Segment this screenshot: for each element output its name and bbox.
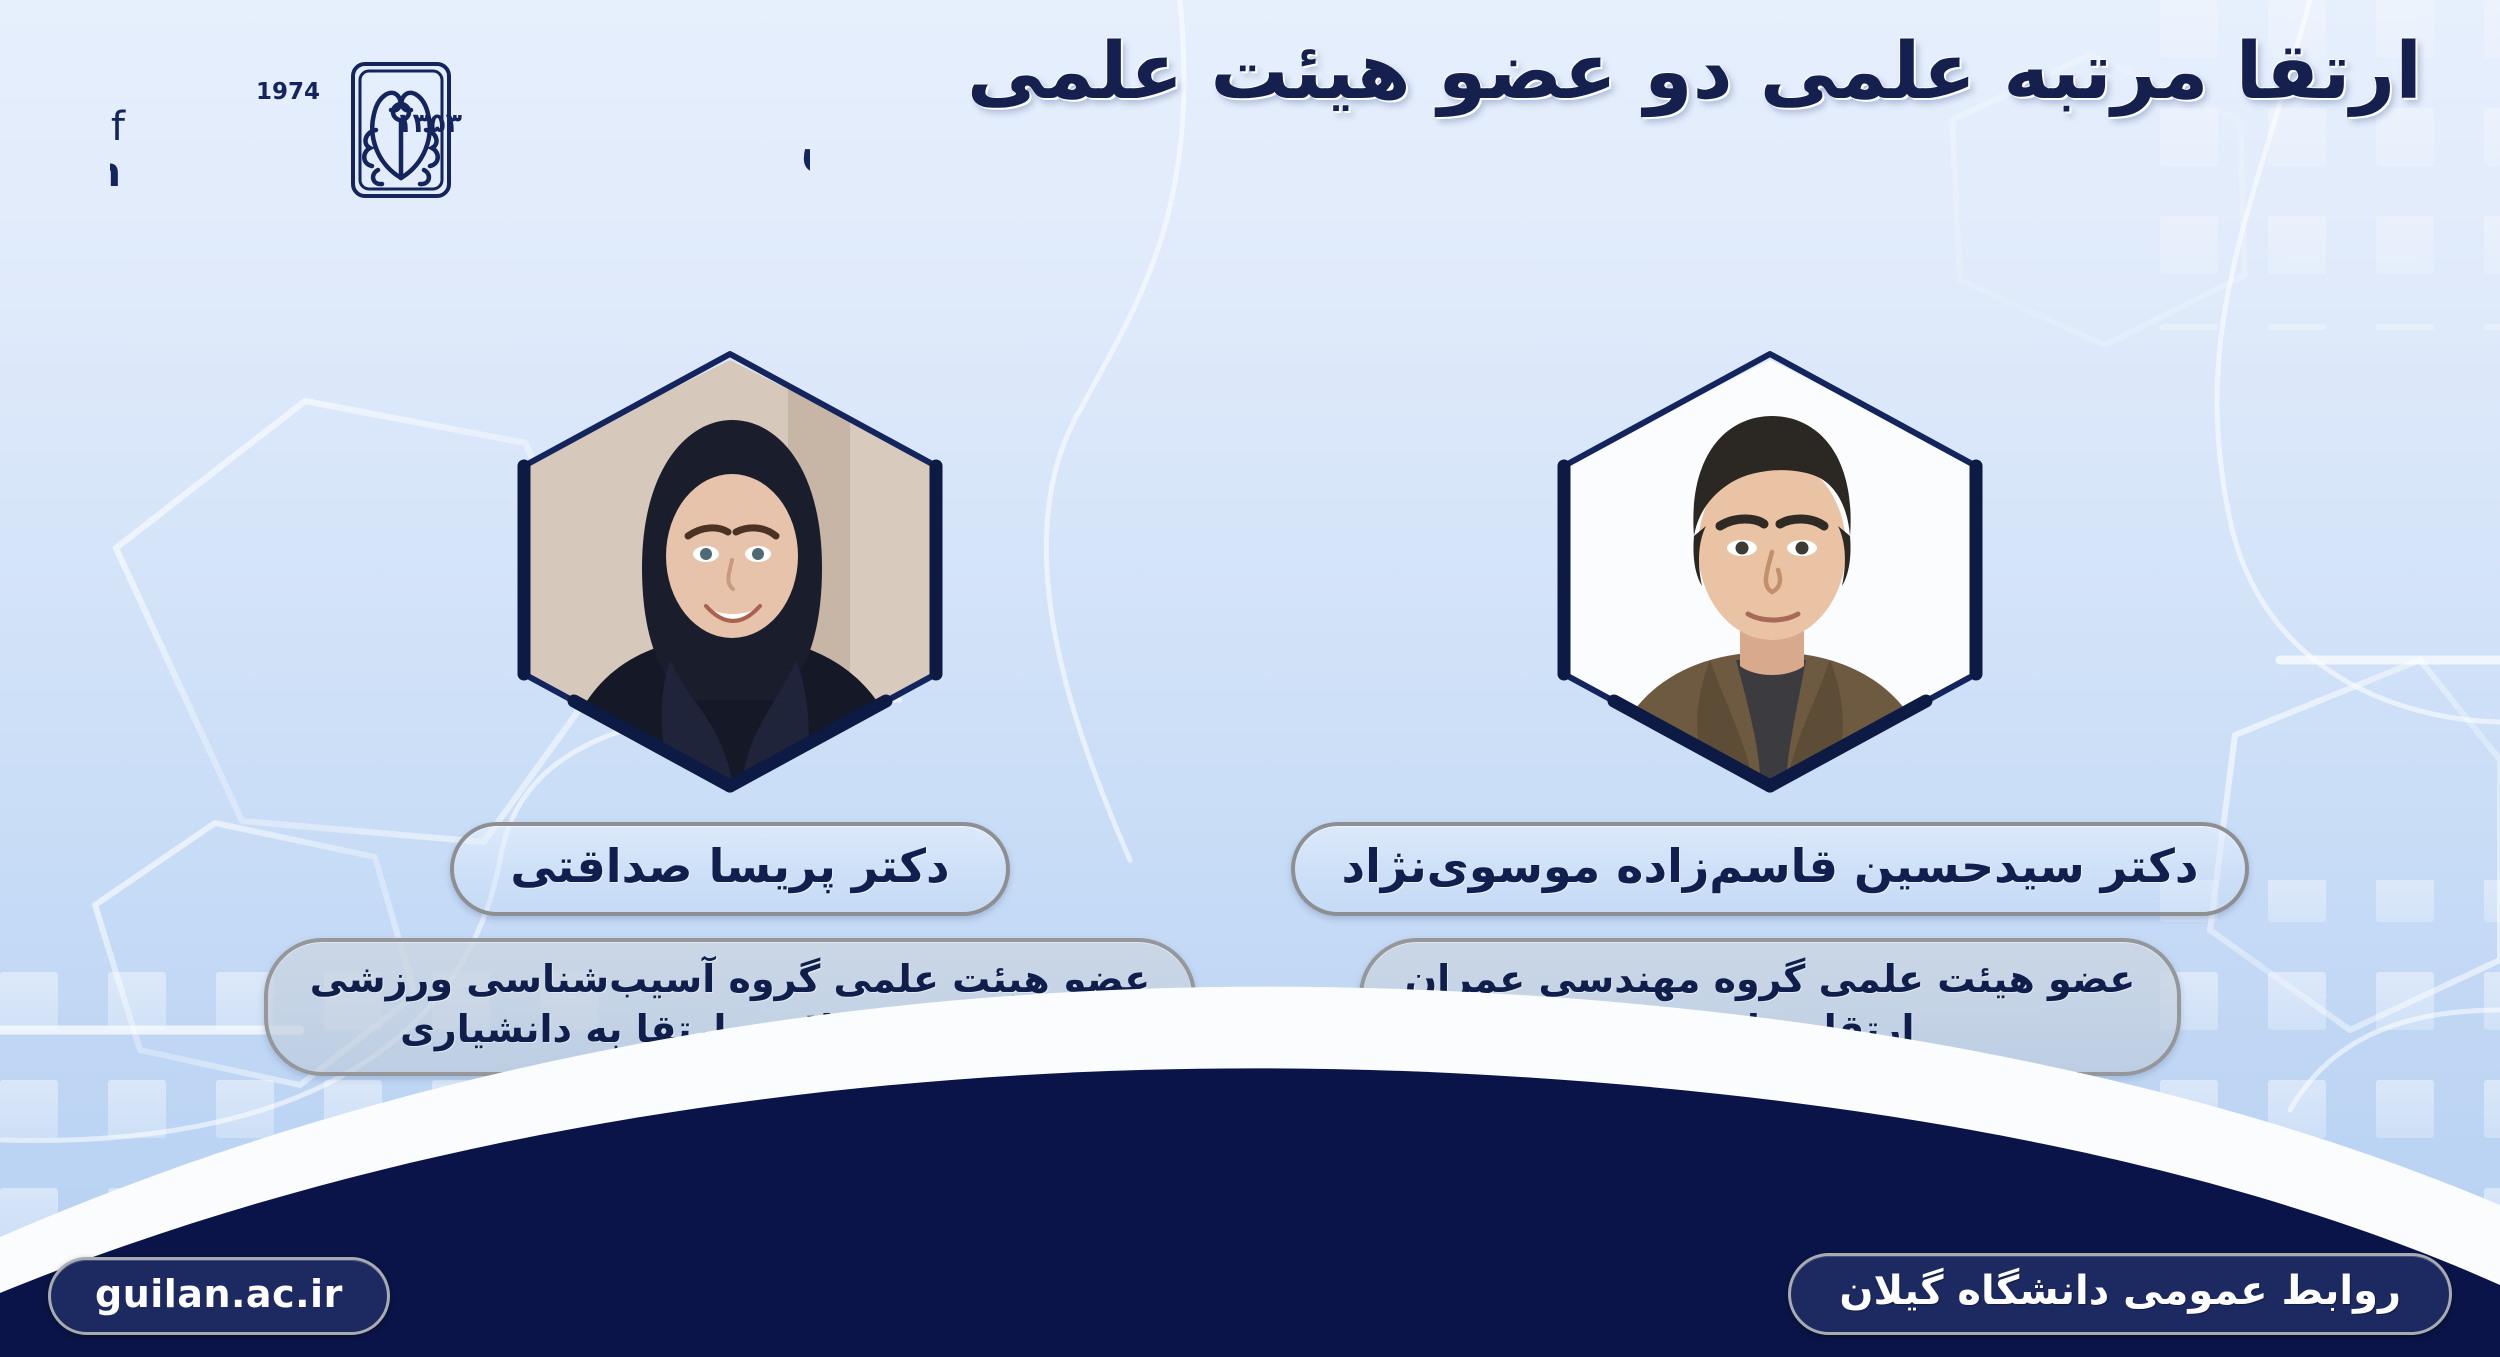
public-relations-chip: روابط عمومی دانشگاه گیلان: [1788, 1253, 2452, 1335]
logo-name-en-line2: Guilan: [110, 150, 130, 196]
logo-year-fa: ۱۳۵۳: [396, 108, 462, 139]
person-role: عضو هیئت علمی گروه مهندسی عمران ارتقا به…: [1359, 938, 2182, 1076]
logo-name-fa: دانشگاه گیلان: [800, 106, 810, 179]
person-role-line: عضو هیئت علمی گروه آسیب‌شناسی ورزشی: [310, 954, 1150, 1004]
person-role-line: ارتقا به استادی: [1405, 1004, 2136, 1054]
website-url-chip[interactable]: guilan.ac.ir: [48, 1257, 390, 1335]
university-logo: 1974 University of Guilan ۱۳۵۳ دانش: [110, 52, 810, 202]
person-role-line: و حرکات اصلاحی ارتقا به دانشیاری: [310, 1004, 1150, 1054]
person-card-seyed-hossein-ghasemzadeh-mousavinejad: دکتر سیدحسین قاسم‌زاده موسوی‌نژاد عضو هی…: [1370, 360, 2170, 1076]
announcement-poster: 1974 University of Guilan ۱۳۵۳ دانش: [0, 0, 2500, 1357]
hex-border-accent: [1546, 346, 1994, 794]
person-name: دکتر پریسا صداقتی: [450, 822, 1010, 916]
hex-border-accent: [506, 346, 954, 794]
person-role: عضو هیئت علمی گروه آسیب‌شناسی ورزشی و حر…: [264, 938, 1196, 1076]
logo-name-en-line1: University of: [110, 104, 126, 150]
page-title: ارتقا مرتبه علمی دو عضو هیئت علمی: [962, 22, 2422, 123]
hex-photo-frame: [1560, 360, 1980, 780]
people-row: دکتر پریسا صداقتی عضو هیئت علمی گروه آسی…: [0, 360, 2500, 1076]
person-card-parisa-sedaghati: دکتر پریسا صداقتی عضو هیئت علمی گروه آسی…: [330, 360, 1130, 1076]
person-name: دکتر سیدحسین قاسم‌زاده موسوی‌نژاد: [1291, 822, 2248, 916]
person-role-line: عضو هیئت علمی گروه مهندسی عمران: [1405, 954, 2136, 1004]
hex-photo-frame: [520, 360, 940, 780]
logo-year-en: 1974: [256, 79, 320, 105]
